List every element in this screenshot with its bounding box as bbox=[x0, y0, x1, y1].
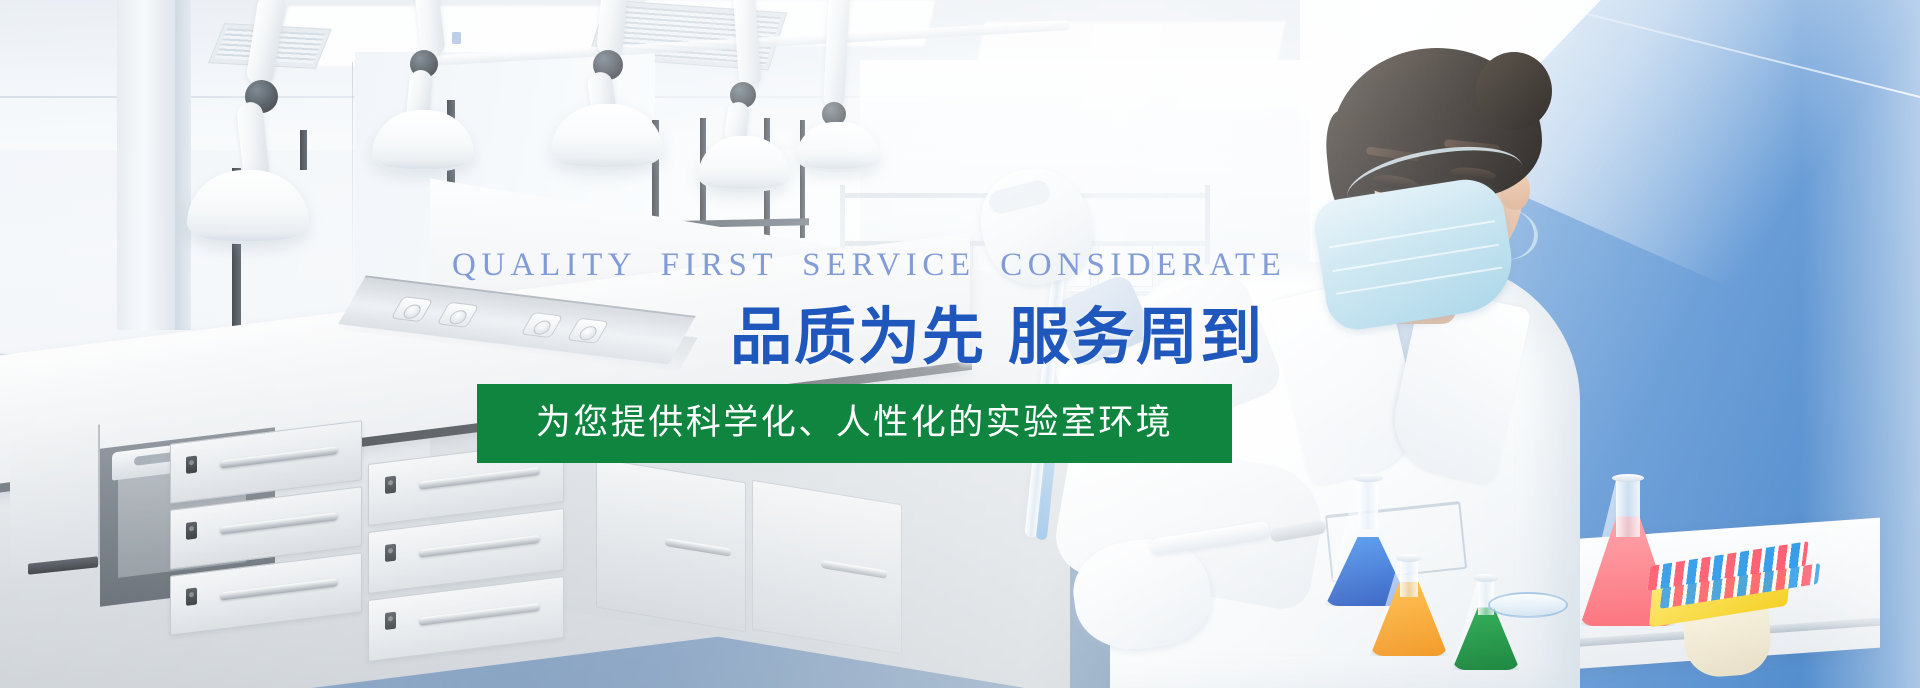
banner-eyebrow-text: QUALITY FIRST SERVICE CONSIDERATE bbox=[452, 249, 1286, 282]
promo-banner: QUALITY FIRST SERVICE CONSIDERATE 品质为先服务… bbox=[0, 0, 1920, 688]
headline-part-2: 服务周到 bbox=[1008, 300, 1264, 373]
banner-subtitle-bar: 为您提供科学化、人性化的实验室环境 bbox=[477, 384, 1232, 463]
banner-headline: 品质为先服务周到 bbox=[730, 306, 1264, 368]
headline-part-1: 品质为先 bbox=[730, 300, 986, 373]
banner-subtitle-text: 为您提供科学化、人性化的实验室环境 bbox=[536, 406, 1174, 441]
banner-copy: QUALITY FIRST SERVICE CONSIDERATE 品质为先服务… bbox=[0, 0, 1920, 688]
